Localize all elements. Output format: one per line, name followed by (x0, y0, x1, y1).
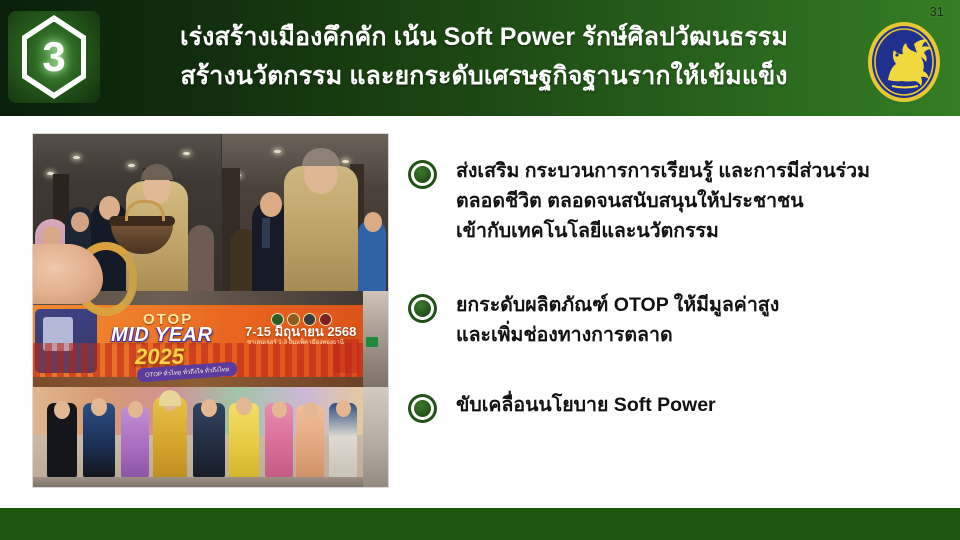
page-number: 31 (930, 4, 944, 19)
step-badge-block: 3 (8, 11, 100, 103)
bullet-2-line-2: และเพิ่มช่องทางการตลาด (456, 320, 779, 350)
bullet-1-line-3: เข้ากับเทคโนโลยีและนวัตกรรม (456, 216, 870, 246)
bullet-item-3: ขับเคลื่อนนโยบาย Soft Power (408, 390, 938, 423)
bullet-item-2: ยกระดับผลิตภัณฑ์ OTOP ให้มีมูลค่าสูง และ… (408, 290, 938, 350)
bullet-item-1-text: ส่งเสริม กระบวนการการเรียนรู้ และการมีส่… (456, 156, 870, 246)
step-number: 3 (42, 36, 65, 78)
bullet-item-3-text: ขับเคลื่อนนโยบาย Soft Power (456, 390, 716, 420)
bullet-1-line-1: ส่งเสริม กระบวนการการเรียนรู้ และการมีส่… (456, 156, 870, 186)
venue-wall-lower (363, 387, 388, 487)
slide-header: 3 เร่งสร้างเมืองคึกคัก เน้น Soft Power ร… (0, 0, 960, 116)
hexagon-badge-icon: 3 (22, 15, 86, 99)
page-title-line-1: เร่งสร้างเมืองคึกคัก เน้น Soft Power รัก… (104, 18, 864, 57)
exit-sign-icon (366, 337, 378, 347)
thai-royal-lion-seal-icon (862, 14, 946, 104)
circle-bullet-icon (408, 394, 437, 423)
slide-body: OTOP MID YEAR 2025 7-15 มิถุนายน 2568 ชา… (0, 116, 960, 508)
bullet-item-1: ส่งเสริม กระบวนการการเรียนรู้ และการมีส่… (408, 156, 938, 246)
bullet-3-line-1: ขับเคลื่อนนโยบาย Soft Power (456, 390, 716, 420)
stage-floor (33, 477, 388, 487)
circle-bullet-icon (408, 294, 437, 323)
photo-collage: OTOP MID YEAR 2025 7-15 มิถุนายน 2568 ชา… (33, 134, 388, 487)
page-title-line-2: สร้างนวัตกรรม และยกระดับเศรษฐกิจฐานรากให… (104, 57, 864, 96)
banner-venue-text: ชาเลนเจอร์ 1-3 อิมแพ็ค เมืองทองธานี (247, 337, 344, 347)
bullet-list: ส่งเสริม กระบวนการการเรียนรู้ และการมีส่… (408, 156, 938, 423)
slide-footer (0, 508, 960, 540)
page-title: เร่งสร้างเมืองคึกคัก เน้น Soft Power รัก… (104, 18, 864, 96)
bullet-item-2-text: ยกระดับผลิตภัณฑ์ OTOP ให้มีมูลค่าสูง และ… (456, 290, 779, 350)
bullet-2-line-1: ยกระดับผลิตภัณฑ์ OTOP ให้มีมูลค่าสูง (456, 290, 779, 320)
banner-bottom-edge (33, 377, 363, 387)
photo-group-ceremony (33, 387, 388, 487)
photo-panel-right (222, 134, 388, 291)
circle-bullet-icon (408, 160, 437, 189)
bullet-1-line-2: ตลอดชีวิต ตลอดจนสนับสนุนให้ประชาชน (456, 186, 870, 216)
